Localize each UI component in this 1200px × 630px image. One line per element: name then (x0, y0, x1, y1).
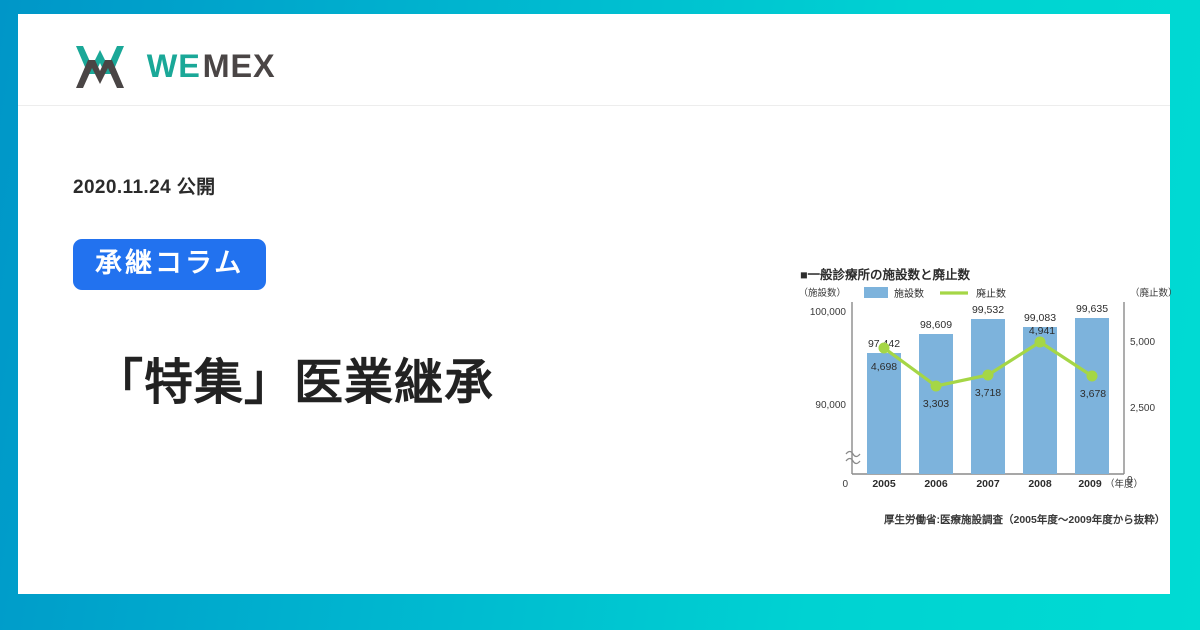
bar-value-2006: 98,609 (920, 319, 952, 331)
svg-text:WE: WE (147, 49, 201, 84)
wemex-logo[interactable]: WE MEX (71, 38, 325, 96)
legend-label-bar: 施設数 (894, 287, 924, 300)
axis-break-icon (846, 459, 860, 464)
axis-break-icon (846, 452, 860, 457)
chart-source-note: 厚生労働省:医療施設調査（2005年度〜2009年度から抜粋） (884, 512, 1165, 527)
x-tick-2006: 2006 (924, 478, 948, 490)
line-value-2007: 3,718 (975, 387, 1001, 399)
line-value-2005: 4,698 (871, 361, 897, 373)
bar-value-2008: 99,083 (1024, 312, 1056, 324)
left-axis-tick-0: 0 (842, 479, 848, 490)
legend-label-line: 廃止数 (976, 287, 1006, 300)
site-header: WE MEX (18, 14, 1170, 106)
x-tick-2009: 2009 (1078, 478, 1102, 490)
content-card: WE MEX 2020.11.24 公開 承継コラム 「特集」医業継承 ■一般診… (18, 14, 1170, 594)
chart-figure: ■一般診療所の施設数と廃止数 100,000 90,000 0 5,000 (780, 264, 1180, 529)
line-point-2005 (879, 343, 890, 354)
line-point-2007 (983, 370, 994, 381)
left-axis-tick-90000: 90,000 (815, 400, 846, 411)
line-value-2008: 4,941 (1029, 325, 1055, 337)
category-badge[interactable]: 承継コラム (73, 239, 266, 290)
x-tick-2008: 2008 (1028, 478, 1052, 490)
left-axis-label: （施設数） (798, 287, 846, 299)
left-axis-tick-100000: 100,000 (810, 307, 847, 318)
line-point-2006 (931, 381, 942, 392)
bar-value-2007: 99,532 (972, 304, 1004, 316)
publish-date: 2020.11.24 公開 (73, 172, 216, 199)
article-body: 2020.11.24 公開 承継コラム 「特集」医業継承 ■一般診療所の施設数と… (18, 106, 1170, 594)
right-axis-label: （廃止数） (1130, 287, 1178, 299)
bar-value-2009: 99,635 (1076, 303, 1108, 315)
line-point-2009 (1087, 371, 1098, 382)
x-tick-2007: 2007 (976, 478, 1000, 490)
chart-canvas: 100,000 90,000 0 5,000 2,500 0 （施設数） （廃止… (780, 284, 1180, 509)
legend-swatch-bar (864, 287, 888, 298)
line-value-2006: 3,303 (923, 398, 949, 410)
line-value-2009: 3,678 (1080, 388, 1106, 400)
wemex-double-chevron-mark (71, 38, 129, 96)
x-tick-2005: 2005 (872, 478, 896, 490)
x-axis-unit-label: （年度） (1105, 478, 1143, 490)
gradient-frame: WE MEX 2020.11.24 公開 承継コラム 「特集」医業継承 ■一般診… (0, 0, 1200, 630)
line-point-2008 (1035, 337, 1046, 348)
right-axis-tick-5000: 5,000 (1130, 337, 1155, 348)
page-title: 「特集」医業継承 (94, 357, 494, 411)
wemex-wordmark: WE MEX (145, 49, 325, 85)
svg-text:MEX: MEX (203, 49, 276, 84)
right-axis-tick-2500: 2,500 (1130, 403, 1155, 414)
chart-title: ■一般診療所の施設数と廃止数 (800, 264, 970, 283)
